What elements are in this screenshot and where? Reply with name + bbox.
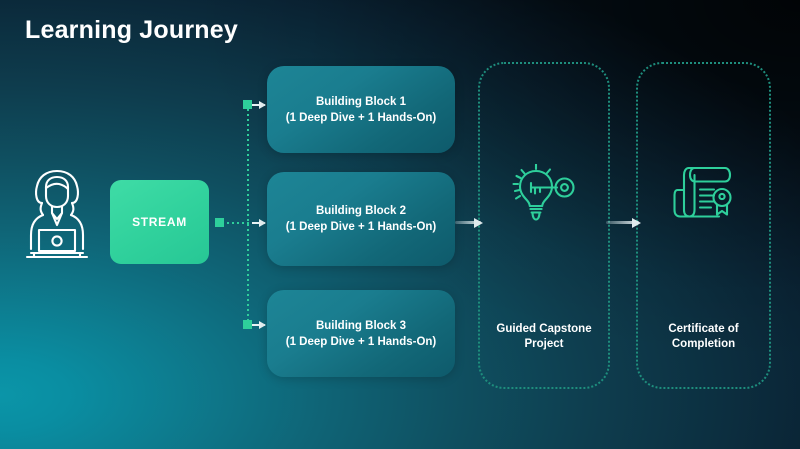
building-block-1[interactable]: Building Block 1 (1 Deep Dive + 1 Hands-… [267,66,455,153]
slide-canvas: Learning Journey [0,0,800,449]
person-at-laptop-icon [18,165,96,263]
page-title: Learning Journey [25,16,238,45]
stage-certificate-label-line1: Certificate of [646,322,761,337]
connector-square-hub [215,218,224,227]
connector-square-bottom [243,320,252,329]
stage-certificate[interactable]: Certificate of Completion [636,62,771,389]
arrow-to-block-3 [252,324,265,326]
stage-guided-capstone-label: Guided Capstone Project [480,322,608,352]
stage-certificate-label: Certificate of Completion [638,322,769,352]
building-block-2-subtitle: (1 Deep Dive + 1 Hands-On) [286,219,437,235]
building-block-2[interactable]: Building Block 2 (1 Deep Dive + 1 Hands-… [267,172,455,266]
stage-certificate-label-line2: Completion [646,337,761,352]
building-block-3-title: Building Block 3 [316,318,406,334]
stream-label: STREAM [132,215,187,229]
stage-guided-capstone[interactable]: Guided Capstone Project [478,62,610,389]
building-block-3-subtitle: (1 Deep Dive + 1 Hands-On) [286,334,437,350]
arrow-to-block-2 [252,222,265,224]
stage-capstone-label-line1: Guided Capstone [488,322,600,337]
stream-node[interactable]: STREAM [110,180,209,264]
arrow-blocks-to-capstone [455,221,481,224]
connector-dotted-vertical [247,104,249,320]
stage-capstone-label-line2: Project [488,337,600,352]
building-block-1-subtitle: (1 Deep Dive + 1 Hands-On) [286,110,437,126]
arrow-to-block-1 [252,104,265,106]
arrow-capstone-to-certificate [606,221,639,224]
building-block-2-title: Building Block 2 [316,203,406,219]
lightbulb-key-icon [511,164,577,229]
building-block-3[interactable]: Building Block 3 (1 Deep Dive + 1 Hands-… [267,290,455,377]
certificate-scroll-seal-icon [673,164,735,227]
building-block-1-title: Building Block 1 [316,94,406,110]
